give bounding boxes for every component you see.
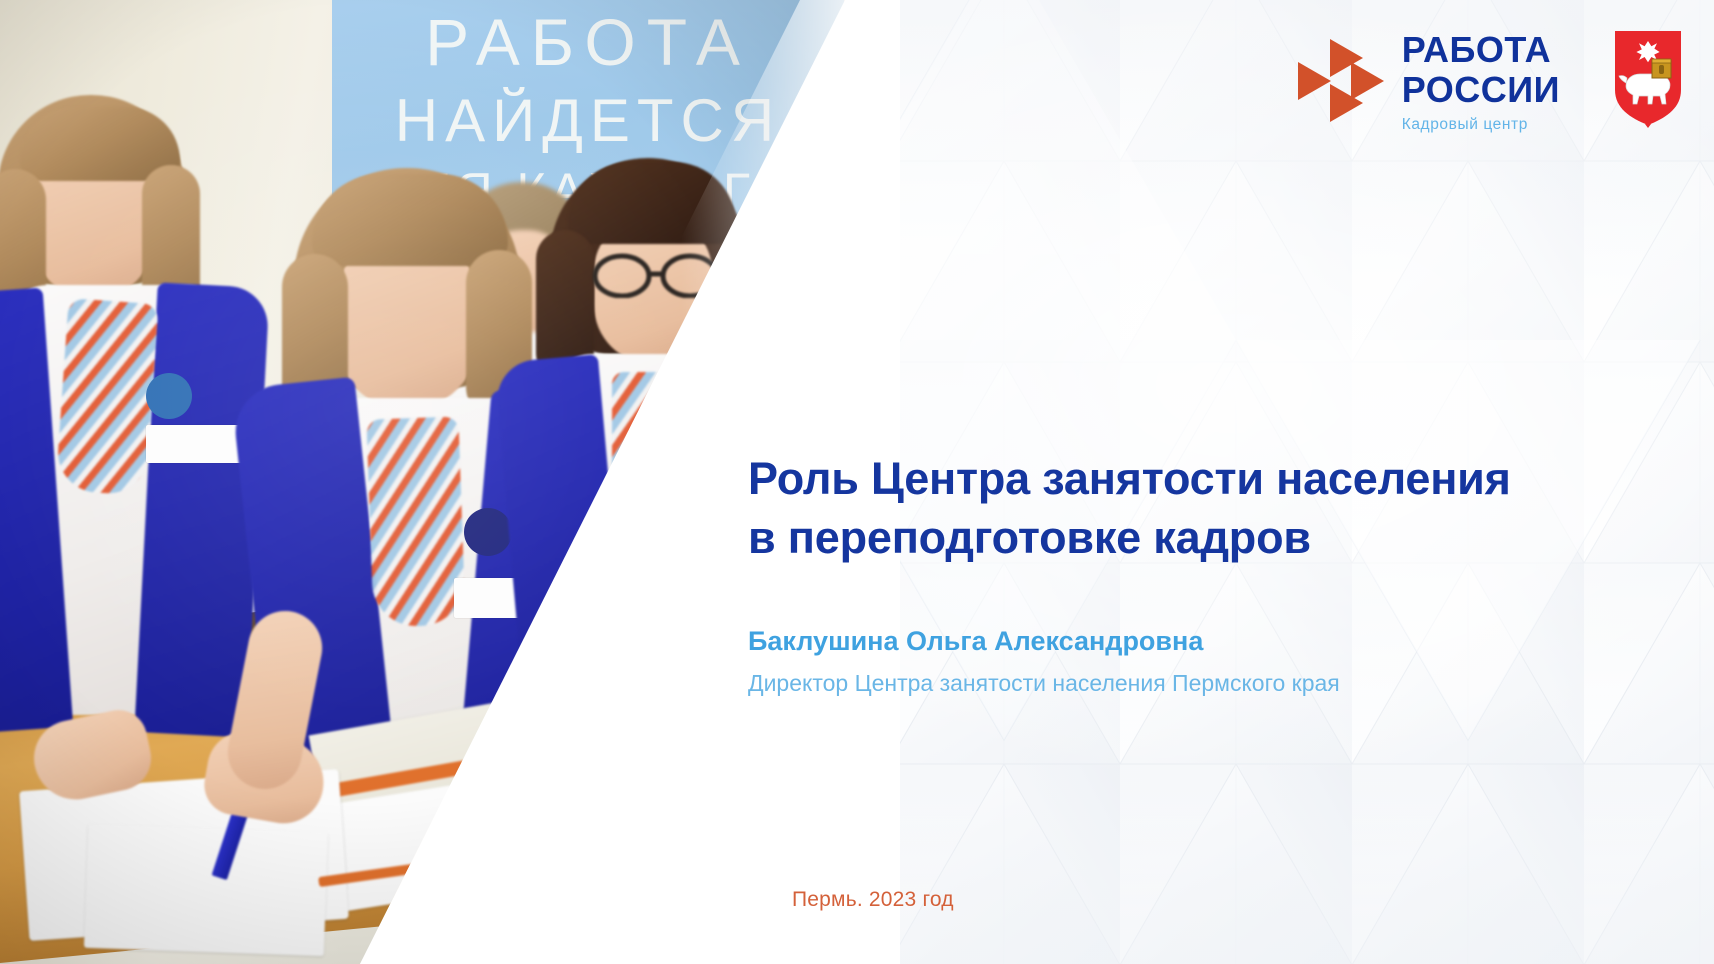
logo-subtitle: Кадровый центр bbox=[1402, 117, 1560, 133]
photo-name-badge bbox=[146, 425, 242, 463]
pinwheel-triangles-icon bbox=[1296, 37, 1388, 123]
title-line-2: в переподготовке кадров bbox=[748, 512, 1311, 563]
logo-line-1: РАБОТА bbox=[1402, 32, 1560, 68]
photo-round-badge bbox=[146, 373, 192, 419]
banner-line-1: РАБОТА bbox=[332, 4, 844, 80]
logo-line-2: РОССИИ bbox=[1402, 72, 1560, 108]
title-block: Роль Центра занятости населения в перепо… bbox=[748, 450, 1648, 567]
banner-line-2: НАЙДЕТСЯ bbox=[332, 86, 844, 155]
perm-krai-coat-of-arms-icon bbox=[1612, 28, 1684, 128]
slide-footer: Пермь. 2023 год bbox=[792, 888, 954, 912]
page-title: Роль Центра занятости населения в перепо… bbox=[748, 450, 1648, 567]
presentation-slide: РАБОТА НАЙДЕТСЯ ДЛЯ КАЖДОГО bbox=[0, 0, 1714, 964]
header-logos: РАБОТА РОССИИ Кадровый центр bbox=[1296, 28, 1684, 133]
photo-round-badge bbox=[464, 508, 512, 556]
photo-person-1 bbox=[0, 95, 270, 735]
author-block: Баклушина Ольга Александровна Директор Ц… bbox=[748, 625, 1648, 699]
author-role: Директор Центра занятости населения Перм… bbox=[748, 669, 1648, 699]
author-name: Баклушина Ольга Александровна bbox=[748, 625, 1648, 659]
rabota-rossii-logo[interactable]: РАБОТА РОССИИ Кадровый центр bbox=[1296, 28, 1560, 133]
title-line-1: Роль Центра занятости населения bbox=[748, 453, 1511, 504]
